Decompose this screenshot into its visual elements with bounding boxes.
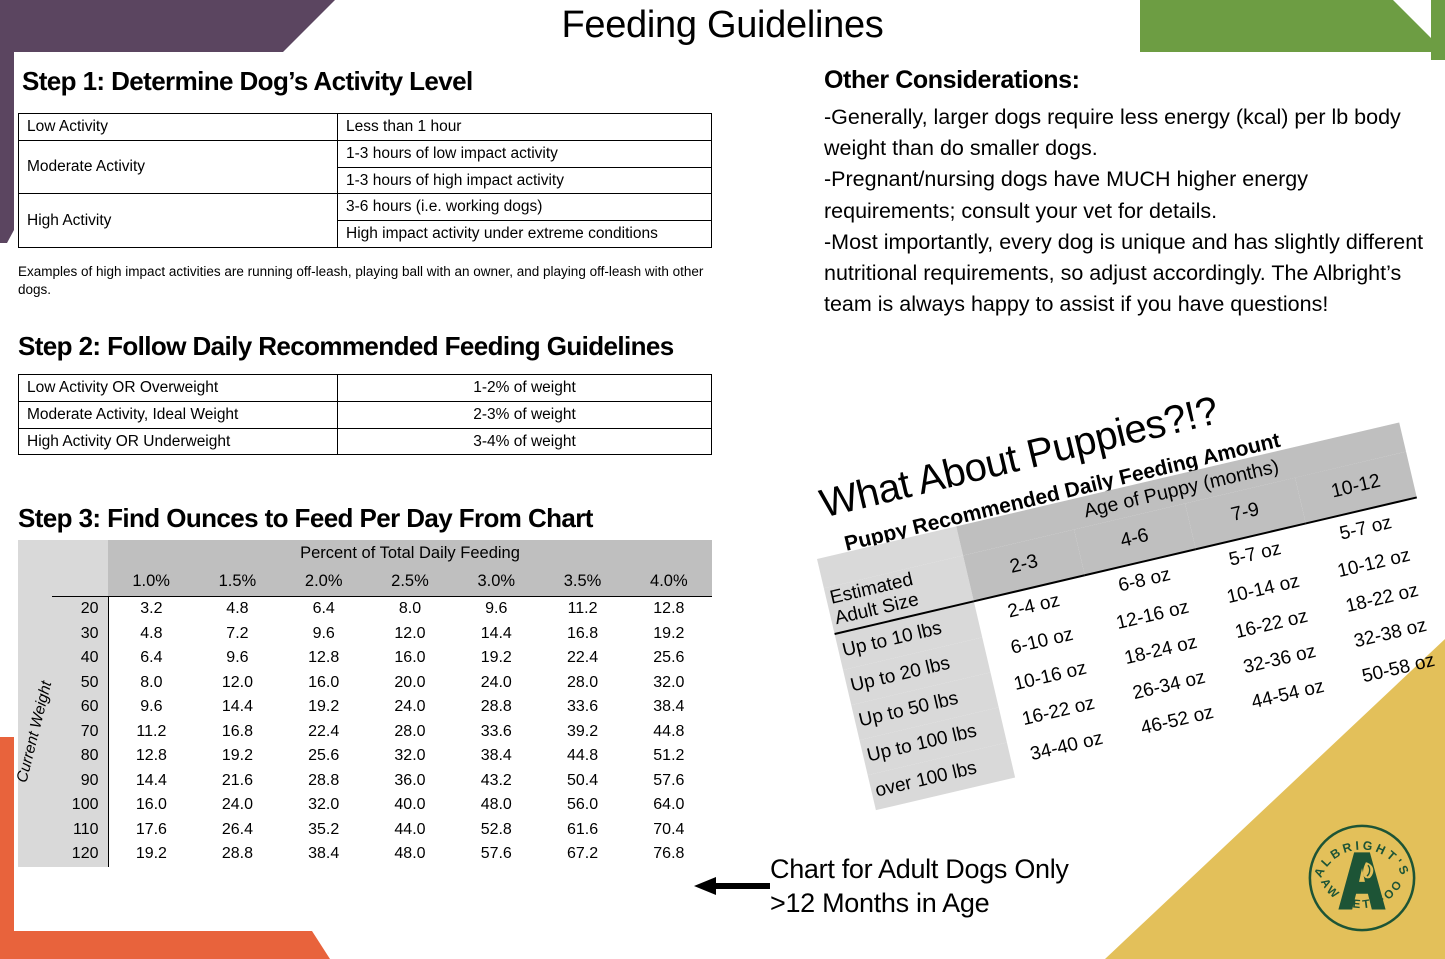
chart-cell: 3.2	[108, 597, 194, 622]
chart-group-header-row: Percent of Total Daily Feeding	[18, 540, 712, 566]
chart-cell: 8.0	[367, 597, 453, 622]
chart-cell: 19.2	[626, 622, 712, 647]
chart-cell: 14.4	[453, 622, 539, 647]
feeding-ounces-chart: Percent of Total Daily Feeding1.0%1.5%2.…	[18, 540, 712, 867]
table-row: High Activity 3-6 hours (i.e. working do…	[19, 194, 712, 221]
chart-row-label: 40	[52, 646, 108, 671]
chart-cell: 9.6	[453, 597, 539, 622]
table-row: 508.012.016.020.024.028.032.0	[18, 671, 712, 696]
chart-cell: 4.8	[194, 597, 280, 622]
chart-cell: 16.0	[281, 671, 367, 696]
chart-cell: 32.0	[367, 744, 453, 769]
chart-cell: 11.2	[108, 720, 194, 745]
chart-cell: 19.2	[281, 695, 367, 720]
table-row: Moderate Activity, Ideal Weight 2-3% of …	[19, 401, 712, 428]
chart-row-label: 20	[52, 597, 108, 622]
chart-cell: 22.4	[539, 646, 625, 671]
chart-cell: 38.4	[453, 744, 539, 769]
chart-cell: 64.0	[626, 793, 712, 818]
step1-heading: Step 1: Determine Dog’s Activity Level	[22, 66, 473, 97]
chart-column-header: 4.0%	[626, 566, 712, 597]
chart-cell: 9.6	[281, 622, 367, 647]
chart-cell: 28.8	[194, 842, 280, 867]
chart-cell: 50.4	[539, 769, 625, 794]
chart-cell: 36.0	[367, 769, 453, 794]
chart-cell: 48.0	[453, 793, 539, 818]
chart-cell: 6.4	[108, 646, 194, 671]
chart-column-header-row: 1.0%1.5%2.0%2.5%3.0%3.5%4.0%	[18, 566, 712, 597]
activity-label: High Activity	[19, 194, 338, 248]
adult-dogs-only-note: Chart for Adult Dogs Only >12 Months in …	[770, 853, 1069, 921]
chart-cell: 16.0	[367, 646, 453, 671]
guideline-value: 3-4% of weight	[338, 428, 712, 455]
chart-column-header: 1.0%	[108, 566, 194, 597]
chart-cell: 24.0	[453, 671, 539, 696]
chart-cell: 43.2	[453, 769, 539, 794]
chart-row-label: 120	[52, 842, 108, 867]
chart-row-label: 80	[52, 744, 108, 769]
chart-row-label: 60	[52, 695, 108, 720]
activity-value: High impact activity under extreme condi…	[338, 221, 712, 248]
chart-cell: 61.6	[539, 818, 625, 843]
chart-cell: 28.0	[539, 671, 625, 696]
guideline-label: Low Activity OR Overweight	[19, 375, 338, 402]
activity-value: 3-6 hours (i.e. working dogs)	[338, 194, 712, 221]
chart-cell: 70.4	[626, 818, 712, 843]
left-arrow-icon	[692, 875, 770, 897]
chart-cell: 33.6	[453, 720, 539, 745]
chart-cell: 26.4	[194, 818, 280, 843]
daily-feeding-guidelines-table: Low Activity OR Overweight 1-2% of weigh…	[18, 374, 712, 455]
puppy-section: What About Puppies?!? Puppy Recommended …	[815, 455, 1415, 835]
chart-cell: 35.2	[281, 818, 367, 843]
chart-cell: 44.8	[539, 744, 625, 769]
chart-cell: 22.4	[281, 720, 367, 745]
table-row: 11017.626.435.244.052.861.670.4	[18, 818, 712, 843]
chart-cell: 25.6	[281, 744, 367, 769]
chart-row-label: 70	[52, 720, 108, 745]
chart-cell: 51.2	[626, 744, 712, 769]
chart-cell: 21.6	[194, 769, 280, 794]
activity-level-table: Low Activity Less than 1 hour Moderate A…	[18, 113, 712, 248]
chart-cell: 9.6	[194, 646, 280, 671]
table-row: Low Activity OR Overweight 1-2% of weigh…	[19, 375, 712, 402]
chart-cell: 8.0	[108, 671, 194, 696]
table-row: 7011.216.822.428.033.639.244.8	[18, 720, 712, 745]
table-row: 304.87.29.612.014.416.819.2	[18, 622, 712, 647]
ounces-per-day-table: Percent of Total Daily Feeding1.0%1.5%2.…	[18, 540, 712, 867]
adult-note-line1: Chart for Adult Dogs Only	[770, 853, 1069, 887]
chart-cell: 24.0	[367, 695, 453, 720]
chart-cell: 76.8	[626, 842, 712, 867]
chart-cell: 4.8	[108, 622, 194, 647]
chart-cell: 56.0	[539, 793, 625, 818]
albrights-raw-pet-food-logo: ALBRIGHT'S RAW PET FOOD	[1303, 819, 1421, 937]
adult-note-line2: >12 Months in Age	[770, 887, 1069, 921]
table-row: 406.49.612.816.019.222.425.6	[18, 646, 712, 671]
chart-cell: 28.8	[281, 769, 367, 794]
chart-column-header: 3.0%	[453, 566, 539, 597]
chart-row-label: 100	[52, 793, 108, 818]
chart-cell: 12.8	[281, 646, 367, 671]
guideline-label: High Activity OR Underweight	[19, 428, 338, 455]
poster-canvas: Feeding Guidelines Step 1: Determine Dog…	[0, 0, 1445, 959]
chart-cell: 25.6	[626, 646, 712, 671]
chart-cell: 7.2	[194, 622, 280, 647]
chart-corner-cell	[18, 540, 52, 597]
chart-cell: 19.2	[108, 842, 194, 867]
step2-heading: Step 2: Follow Daily Recommended Feeding…	[18, 331, 674, 362]
chart-cell: 48.0	[367, 842, 453, 867]
chart-cell: 28.8	[453, 695, 539, 720]
activity-label: Low Activity	[19, 114, 338, 141]
chart-cell: 16.8	[539, 622, 625, 647]
guideline-value: 1-2% of weight	[338, 375, 712, 402]
table-row: 609.614.419.224.028.833.638.4	[18, 695, 712, 720]
chart-column-header: 2.0%	[281, 566, 367, 597]
activity-value: 1-3 hours of high impact activity	[338, 167, 712, 194]
chart-cell: 33.6	[539, 695, 625, 720]
chart-cell: 19.2	[453, 646, 539, 671]
page-title: Feeding Guidelines	[0, 4, 1445, 47]
consideration-item: -Pregnant/nursing dogs have MUCH higher …	[824, 164, 1434, 226]
consideration-item: -Most importantly, every dog is unique a…	[824, 227, 1434, 321]
other-considerations-body: -Generally, larger dogs require less ene…	[824, 102, 1434, 320]
guideline-label: Moderate Activity, Ideal Weight	[19, 401, 338, 428]
chart-cell: 38.4	[281, 842, 367, 867]
chart-cell: 32.0	[626, 671, 712, 696]
chart-row-axis-label: Current Weight	[18, 597, 52, 867]
chart-cell: 19.2	[194, 744, 280, 769]
chart-cell: 9.6	[108, 695, 194, 720]
other-considerations-heading: Other Considerations:	[824, 66, 1080, 95]
chart-cell: 12.8	[108, 744, 194, 769]
chart-column-header: 1.5%	[194, 566, 280, 597]
high-impact-examples-note: Examples of high impact activities are r…	[18, 263, 708, 299]
activity-value: Less than 1 hour	[338, 114, 712, 141]
chart-cell: 24.0	[194, 793, 280, 818]
chart-row-label: 90	[52, 769, 108, 794]
chart-cell: 44.8	[626, 720, 712, 745]
chart-cell: 16.0	[108, 793, 194, 818]
chart-cell: 28.0	[367, 720, 453, 745]
table-row: 10016.024.032.040.048.056.064.0	[18, 793, 712, 818]
chart-cell: 11.2	[539, 597, 625, 622]
activity-label: Moderate Activity	[19, 140, 338, 194]
chart-column-header: 3.5%	[539, 566, 625, 597]
chart-cell: 52.8	[453, 818, 539, 843]
chart-cell: 20.0	[367, 671, 453, 696]
table-row: Low Activity Less than 1 hour	[19, 114, 712, 141]
consideration-item: -Generally, larger dogs require less ene…	[824, 102, 1434, 164]
chart-cell: 67.2	[539, 842, 625, 867]
chart-row-label: 30	[52, 622, 108, 647]
table-row: 12019.228.838.448.057.667.276.8	[18, 842, 712, 867]
chart-cell: 57.6	[626, 769, 712, 794]
table-row: 8012.819.225.632.038.444.851.2	[18, 744, 712, 769]
chart-cell: 44.0	[367, 818, 453, 843]
chart-group-header: Percent of Total Daily Feeding	[108, 540, 712, 566]
table-row: High Activity OR Underweight 3-4% of wei…	[19, 428, 712, 455]
chart-cell: 16.8	[194, 720, 280, 745]
chart-cell: 32.0	[281, 793, 367, 818]
chart-cell: 12.0	[194, 671, 280, 696]
table-row: Moderate Activity 1-3 hours of low impac…	[19, 140, 712, 167]
chart-cell: 14.4	[194, 695, 280, 720]
table-row: Current Weight203.24.86.48.09.611.212.8	[18, 597, 712, 622]
chart-cell: 12.8	[626, 597, 712, 622]
chart-cell: 57.6	[453, 842, 539, 867]
guideline-value: 2-3% of weight	[338, 401, 712, 428]
chart-cell: 17.6	[108, 818, 194, 843]
chart-cell: 40.0	[367, 793, 453, 818]
chart-column-header: 2.5%	[367, 566, 453, 597]
chart-corner-cell	[52, 540, 108, 597]
chart-cell: 6.4	[281, 597, 367, 622]
chart-cell: 14.4	[108, 769, 194, 794]
chart-cell: 39.2	[539, 720, 625, 745]
step3-heading: Step 3: Find Ounces to Feed Per Day From…	[18, 503, 593, 534]
chart-row-label: 50	[52, 671, 108, 696]
chart-cell: 12.0	[367, 622, 453, 647]
chart-cell: 38.4	[626, 695, 712, 720]
activity-value: 1-3 hours of low impact activity	[338, 140, 712, 167]
table-row: 9014.421.628.836.043.250.457.6	[18, 769, 712, 794]
chart-row-label: 110	[52, 818, 108, 843]
